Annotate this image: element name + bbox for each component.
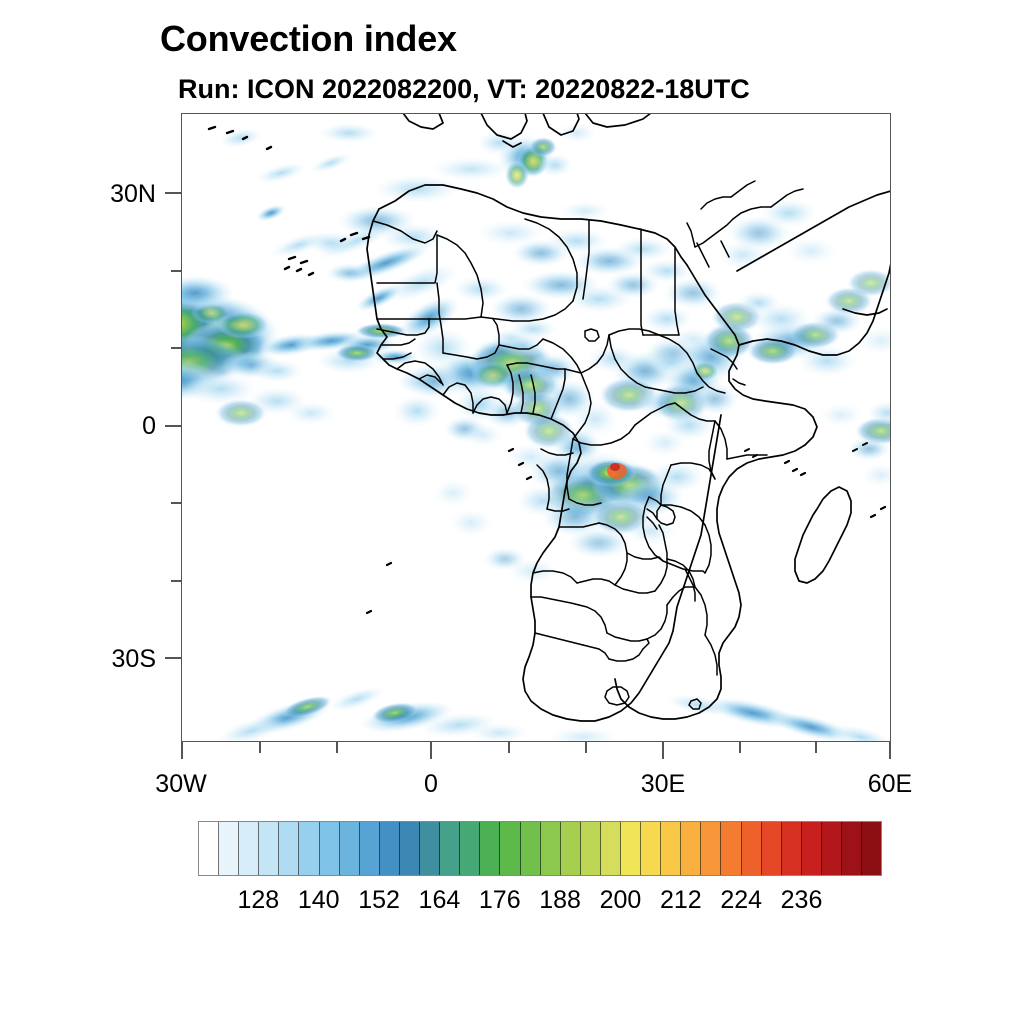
- colorbar-cell-22: [641, 822, 661, 875]
- colorbar-cell-23: [661, 822, 681, 875]
- x-minor-tick-10e: [508, 742, 510, 753]
- x-major-tick-0: [430, 742, 432, 759]
- colorbar-cell-9: [380, 822, 400, 875]
- colorbar-cell-1: [219, 822, 239, 875]
- colorbar-cell-18: [561, 822, 581, 875]
- colorbar-cell-25: [701, 822, 721, 875]
- colorbar-cell-29: [782, 822, 802, 875]
- x-major-tick-30w: [181, 742, 183, 759]
- x-minor-tick-20e: [585, 742, 587, 753]
- y-minor-tick-10n: [171, 347, 182, 349]
- colorbar-cell-28: [762, 822, 782, 875]
- colorbar-cell-5: [299, 822, 319, 875]
- colorbar-cell-7: [340, 822, 360, 875]
- field-indian-ocean: [819, 401, 891, 487]
- colorbar-cell-24: [681, 822, 701, 875]
- colorbar-cell-32: [842, 822, 862, 875]
- x-tick-label-30w: 30W: [131, 770, 231, 799]
- y-tick-label-0: 0: [98, 412, 156, 441]
- colorbar-cell-16: [521, 822, 541, 875]
- islands-comoros: [785, 461, 805, 475]
- page-title: Convection index: [160, 18, 457, 60]
- x-minor-tick-50e: [815, 742, 817, 753]
- colorbar-cell-19: [581, 822, 601, 875]
- field-southern-ocean: [215, 681, 891, 742]
- x-major-tick-60e: [889, 742, 891, 759]
- y-major-tick-30n: [165, 192, 182, 194]
- y-minor-tick-20s: [171, 580, 182, 582]
- colorbar-cell-31: [822, 822, 842, 875]
- y-tick-label-30s: 30S: [98, 645, 156, 674]
- colorbar-cell-30: [802, 822, 822, 875]
- colorbar-cell-11: [420, 822, 440, 875]
- colorbar-cell-0: [199, 822, 219, 875]
- colorbar-cell-17: [541, 822, 561, 875]
- coast-turkey-south: [585, 113, 651, 127]
- figure-subtitle: Run: ICON 2022082200, VT: 20220822-18UTC: [178, 74, 750, 105]
- islands-mascarene: [871, 507, 885, 517]
- colorbar-cell-21: [621, 822, 641, 875]
- colorbar[interactable]: [198, 821, 882, 876]
- islands-south-atlantic: [367, 563, 391, 613]
- colorbar-cell-12: [440, 822, 460, 875]
- colorbar-cell-4: [279, 822, 299, 875]
- colorbar-cell-3: [259, 822, 279, 875]
- colorbar-cell-20: [601, 822, 621, 875]
- x-minor-tick-20w: [259, 742, 261, 753]
- x-major-tick-30e: [662, 742, 664, 759]
- colorbar-cell-6: [320, 822, 340, 875]
- colorbar-tick-label-236: 236: [762, 886, 842, 915]
- colorbar-cell-13: [460, 822, 480, 875]
- x-tick-label-0: 0: [381, 770, 481, 799]
- x-minor-tick-40e: [739, 742, 741, 753]
- y-tick-label-30n: 30N: [98, 180, 156, 209]
- map-plot-area: [181, 113, 891, 742]
- y-major-tick-30s: [165, 657, 182, 659]
- colorbar-cell-2: [239, 822, 259, 875]
- coast-madagascar: [795, 487, 851, 583]
- y-major-tick-0: [165, 425, 182, 427]
- colorbar-cell-27: [742, 822, 762, 875]
- x-tick-label-30e: 30E: [613, 770, 713, 799]
- y-minor-tick-10s: [171, 502, 182, 504]
- colorbar-cell-8: [360, 822, 380, 875]
- figure-canvas: Convection index Run: ICON 2022082200, V…: [0, 0, 1024, 1024]
- islands-cape-verde: [285, 257, 313, 275]
- y-minor-tick-20n: [171, 270, 182, 272]
- map-svg: [181, 113, 891, 742]
- colorbar-cell-33: [862, 822, 881, 875]
- x-tick-label-60e: 60E: [840, 770, 940, 799]
- colorbar-cell-26: [721, 822, 741, 875]
- colorbar-cell-14: [480, 822, 500, 875]
- coast-iberia: [403, 113, 443, 129]
- colorbar-cell-10: [400, 822, 420, 875]
- colorbar-cell-15: [500, 822, 520, 875]
- x-minor-tick-10w: [336, 742, 338, 753]
